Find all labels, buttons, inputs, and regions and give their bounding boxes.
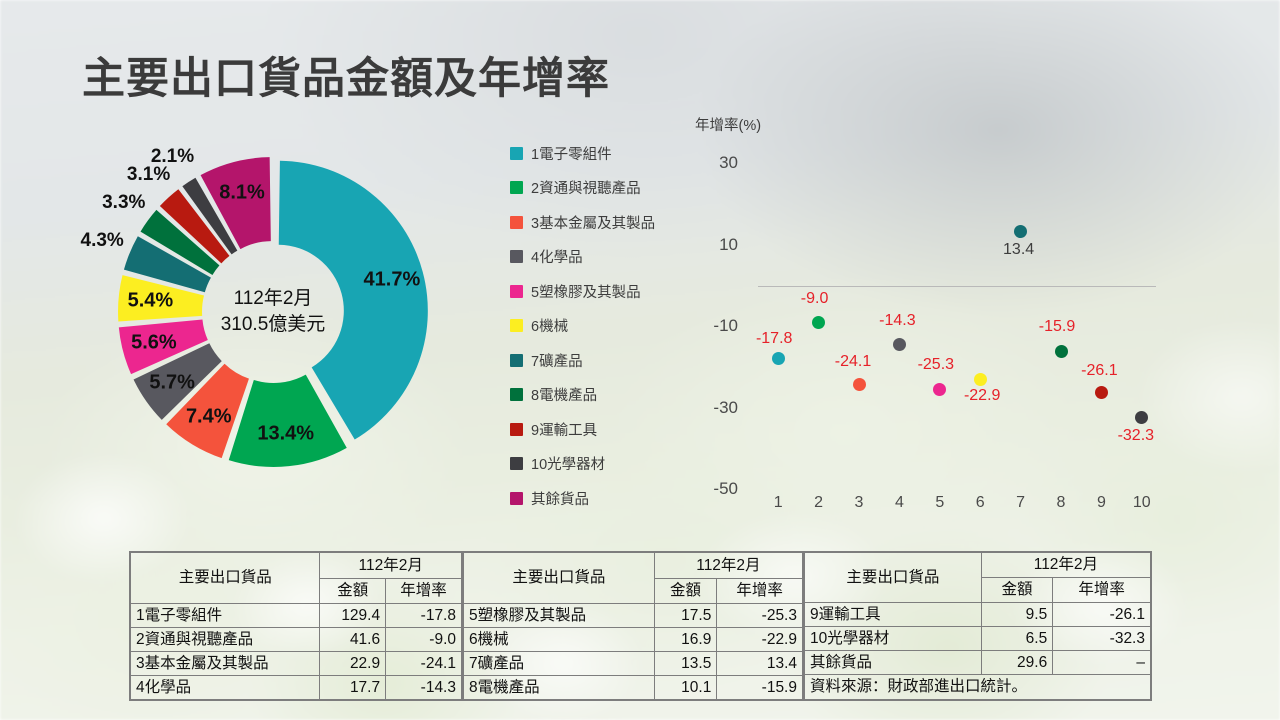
- table-header-amount: 金額: [654, 578, 717, 604]
- legend-swatch-icon: [510, 388, 523, 401]
- scatter-zero-line: [758, 286, 1156, 287]
- table-cell-amount: 29.6: [981, 651, 1052, 675]
- donut-slice-label: 2.1%: [151, 146, 194, 168]
- scatter-x-tick: 8: [1049, 494, 1073, 512]
- legend-item-label: 4化學品: [531, 246, 583, 267]
- table-cell-growth: -15.9: [717, 676, 803, 700]
- donut-slice-label: 4.3%: [81, 230, 124, 252]
- scatter-x-tick: 1: [766, 494, 790, 512]
- donut-slice-label: 13.4%: [257, 423, 314, 446]
- legend-swatch-icon: [510, 492, 523, 505]
- table-cell-growth: -32.3: [1053, 627, 1151, 651]
- table-block: 主要出口貨品112年2月金額年增率5塑橡膠及其製品17.5-25.36機械16.…: [462, 551, 803, 701]
- table-row: 5塑橡膠及其製品17.5-25.3: [464, 604, 803, 628]
- table-row: 其餘貨品29.6–: [805, 651, 1151, 675]
- table-cell-amount: 129.4: [320, 604, 386, 628]
- scatter-y-tick: 10: [698, 235, 738, 255]
- legend-item[interactable]: 4化學品: [510, 240, 690, 275]
- legend-item[interactable]: 3基本金屬及其製品: [510, 205, 690, 240]
- legend-swatch-icon: [510, 285, 523, 298]
- table-row: 9運輸工具9.5-26.1: [805, 603, 1151, 627]
- donut-slice-label: 5.6%: [131, 332, 177, 355]
- legend-swatch-icon: [510, 319, 523, 332]
- scatter-point: [772, 352, 785, 365]
- table-header-growth: 年增率: [1053, 578, 1151, 603]
- scatter-point-label: -14.3: [879, 312, 915, 330]
- table-cell-name: 其餘貨品: [805, 651, 982, 675]
- scatter-point: [1055, 345, 1068, 358]
- scatter-y-tick: -10: [698, 316, 738, 336]
- table-cell-name: 8電機產品: [464, 676, 655, 700]
- page-title: 主要出口貨品金額及年增率: [82, 44, 610, 106]
- table-cell-growth: –: [1053, 651, 1151, 675]
- table-row: 8電機產品10.1-15.9: [464, 676, 803, 700]
- table-cell-name: 5塑橡膠及其製品: [464, 604, 655, 628]
- scatter-x-tick: 3: [847, 494, 871, 512]
- scatter-x-tick: 9: [1089, 494, 1113, 512]
- scatter-axis-title: 年增率(%): [695, 114, 761, 135]
- table-cell-growth: -14.3: [386, 676, 462, 700]
- table-cell-growth: 13.4: [717, 652, 803, 676]
- table-header-name: 主要出口貨品: [805, 553, 982, 603]
- table-cell-amount: 13.5: [654, 652, 717, 676]
- donut-chart: 112年2月 310.5億美元 41.7%13.4%7.4%5.7%5.6%5.…: [78, 112, 468, 512]
- table-cell-name: 3基本金屬及其製品: [131, 652, 320, 676]
- table-header-growth: 年增率: [717, 578, 803, 604]
- table-cell-name: 1電子零組件: [131, 604, 320, 628]
- table-cell-amount: 10.1: [654, 676, 717, 700]
- table-header-period: 112年2月: [981, 553, 1150, 578]
- scatter-y-tick: 30: [698, 153, 738, 173]
- table-cell-amount: 6.5: [981, 627, 1052, 651]
- table-header-amount: 金額: [981, 578, 1052, 603]
- table-cell-growth: -24.1: [386, 652, 462, 676]
- donut-slice-label: 3.3%: [102, 192, 145, 214]
- table-cell-amount: 9.5: [981, 603, 1052, 627]
- legend-swatch-icon: [510, 457, 523, 470]
- scatter-x-tick: 2: [807, 494, 831, 512]
- table-cell-growth: -17.8: [386, 604, 462, 628]
- table-cell-amount: 17.7: [320, 676, 386, 700]
- table-cell-growth: -25.3: [717, 604, 803, 628]
- scatter-point-label: -22.9: [964, 387, 1000, 405]
- scatter-x-tick: 6: [968, 494, 992, 512]
- table-cell-name: 6機械: [464, 628, 655, 652]
- table-row: 7礦產品13.513.4: [464, 652, 803, 676]
- legend-item-label: 3基本金屬及其製品: [531, 212, 655, 233]
- table-source-note: 資料來源：財政部進出口統計。: [805, 675, 1151, 700]
- scatter-point: [974, 373, 987, 386]
- donut-slice-label: 7.4%: [186, 405, 232, 428]
- scatter-point: [893, 338, 906, 351]
- table-cell-amount: 16.9: [654, 628, 717, 652]
- scatter-point-label: -24.1: [835, 353, 871, 371]
- table-header-name: 主要出口貨品: [131, 553, 320, 604]
- legend-swatch-icon: [510, 354, 523, 367]
- legend-item-label: 5塑橡膠及其製品: [531, 281, 641, 302]
- scatter-point-label: -26.1: [1081, 362, 1117, 380]
- scatter-x-tick: 5: [928, 494, 952, 512]
- table-row: 1電子零組件129.4-17.8: [131, 604, 462, 628]
- legend-item-label: 10光學器材: [531, 453, 605, 474]
- scatter-point: [812, 316, 825, 329]
- scatter-point-label: -9.0: [801, 290, 829, 308]
- donut-slice-label: 8.1%: [219, 181, 265, 204]
- table-cell-name: 7礦產品: [464, 652, 655, 676]
- chart-legend: 1電子零組件2資通與視聽產品3基本金屬及其製品4化學品5塑橡膠及其製品6機械7礦…: [510, 136, 690, 516]
- legend-item-label: 7礦產品: [531, 350, 583, 371]
- legend-item-label: 1電子零組件: [531, 143, 612, 164]
- table-header-period: 112年2月: [654, 553, 802, 579]
- legend-item[interactable]: 8電機產品: [510, 378, 690, 413]
- scatter-point: [933, 383, 946, 396]
- legend-item[interactable]: 9運輸工具: [510, 412, 690, 447]
- table-cell-amount: 17.5: [654, 604, 717, 628]
- table-cell-growth: -22.9: [717, 628, 803, 652]
- table-cell-amount: 41.6: [320, 628, 386, 652]
- donut-slice-label: 5.7%: [149, 371, 195, 394]
- table-header-name: 主要出口貨品: [464, 553, 655, 604]
- scatter-point-label: 13.4: [1003, 241, 1034, 259]
- scatter-point-label: -32.3: [1118, 427, 1154, 445]
- table-cell-name: 9運輸工具: [805, 603, 982, 627]
- legend-item[interactable]: 10光學器材: [510, 447, 690, 482]
- slide-canvas: 主要出口貨品金額及年增率 112年2月 310.5億美元 41.7%13.4%7…: [0, 0, 1280, 720]
- table-row: 10光學器材6.5-32.3: [805, 627, 1151, 651]
- scatter-point: [1014, 225, 1027, 238]
- table-row: 6機械16.9-22.9: [464, 628, 803, 652]
- legend-swatch-icon: [510, 216, 523, 229]
- legend-item[interactable]: 2資通與視聽產品: [510, 171, 690, 206]
- scatter-point: [1095, 386, 1108, 399]
- table-header-amount: 金額: [320, 578, 386, 604]
- legend-item-label: 其餘貨品: [531, 488, 589, 509]
- table-row: 3基本金屬及其製品22.9-24.1: [131, 652, 462, 676]
- scatter-y-tick: -30: [698, 398, 738, 418]
- table-cell-name: 10光學器材: [805, 627, 982, 651]
- table-cell-name: 4化學品: [131, 676, 320, 700]
- scatter-chart: 年增率(%) 3010-10-30-50 12345678910 -17.8-9…: [690, 110, 1180, 530]
- scatter-point-label: -17.8: [756, 330, 792, 348]
- table-header-period: 112年2月: [320, 553, 462, 579]
- table-header-growth: 年增率: [386, 578, 462, 604]
- table-cell-amount: 22.9: [320, 652, 386, 676]
- legend-item[interactable]: 7礦產品: [510, 343, 690, 378]
- scatter-x-tick: 4: [887, 494, 911, 512]
- legend-item[interactable]: 1電子零組件: [510, 136, 690, 171]
- scatter-point-label: -25.3: [918, 356, 954, 374]
- legend-swatch-icon: [510, 147, 523, 160]
- table-block: 主要出口貨品112年2月金額年增率9運輸工具9.5-26.110光學器材6.5-…: [803, 551, 1152, 701]
- table-row: 4化學品17.7-14.3: [131, 676, 462, 700]
- legend-item-label: 8電機產品: [531, 384, 597, 405]
- legend-item[interactable]: 6機械: [510, 309, 690, 344]
- legend-swatch-icon: [510, 423, 523, 436]
- table-source-row: 資料來源：財政部進出口統計。: [805, 675, 1151, 700]
- table-block: 主要出口貨品112年2月金額年增率1電子零組件129.4-17.82資通與視聽產…: [129, 551, 462, 701]
- legend-item-label: 2資通與視聽產品: [531, 177, 641, 198]
- table-cell-growth: -26.1: [1053, 603, 1151, 627]
- legend-item[interactable]: 5塑橡膠及其製品: [510, 274, 690, 309]
- scatter-x-tick: 10: [1130, 494, 1154, 512]
- donut-slice-label: 5.4%: [128, 290, 174, 313]
- legend-swatch-icon: [510, 250, 523, 263]
- legend-item[interactable]: 其餘貨品: [510, 481, 690, 516]
- scatter-y-tick: -50: [698, 479, 738, 499]
- data-table: 主要出口貨品112年2月金額年增率1電子零組件129.4-17.82資通與視聽產…: [129, 551, 1152, 701]
- legend-item-label: 9運輸工具: [531, 419, 597, 440]
- legend-swatch-icon: [510, 181, 523, 194]
- legend-item-label: 6機械: [531, 315, 568, 336]
- donut-slice-label: 41.7%: [364, 269, 421, 292]
- scatter-point: [1135, 411, 1148, 424]
- scatter-point: [853, 378, 866, 391]
- scatter-point-label: -15.9: [1039, 318, 1075, 336]
- table-row: 2資通與視聽產品41.6-9.0: [131, 628, 462, 652]
- table-cell-name: 2資通與視聽產品: [131, 628, 320, 652]
- scatter-x-tick: 7: [1009, 494, 1033, 512]
- table-cell-growth: -9.0: [386, 628, 462, 652]
